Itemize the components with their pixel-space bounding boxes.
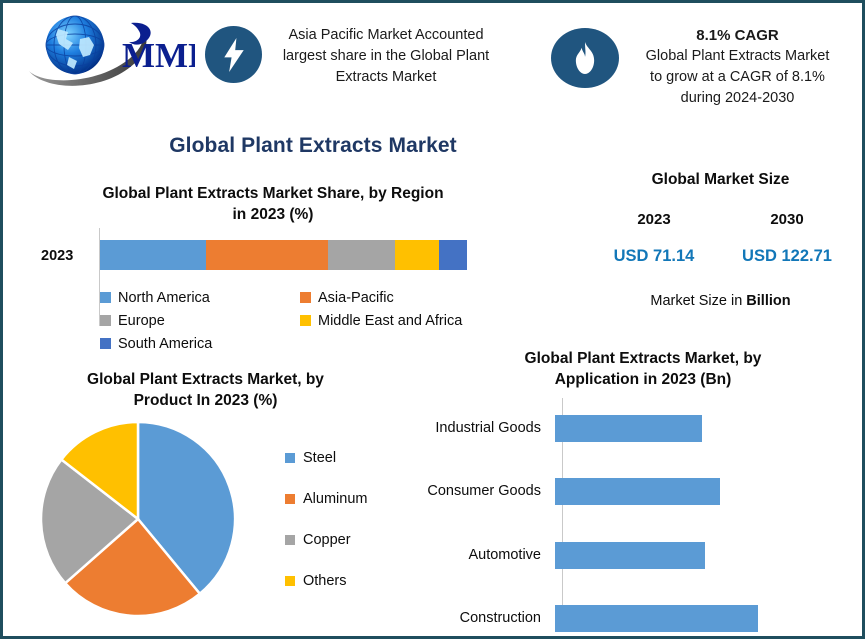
product-legend-label: Steel xyxy=(303,450,336,466)
application-bar xyxy=(555,478,720,505)
market-size-footer-unit: Billion xyxy=(746,293,790,309)
region-legend-label: Asia-Pacific xyxy=(318,290,394,306)
legend-swatch-icon xyxy=(285,535,295,545)
product-legend-item: Aluminum xyxy=(285,478,415,519)
highlight-1-line-1: Asia Pacific Market Accounted xyxy=(288,27,483,43)
logo-text: MMR xyxy=(122,36,195,75)
region-legend-item: South America xyxy=(100,332,300,355)
region-legend-label: South America xyxy=(118,336,212,352)
market-size-left-year: 2023 xyxy=(589,211,719,228)
legend-swatch-icon xyxy=(100,315,111,326)
market-size-left-value: USD 71.14 xyxy=(589,247,719,266)
product-pie xyxy=(38,419,238,619)
flame-icon xyxy=(551,28,619,88)
market-size-footer: Market Size in Billion xyxy=(583,293,858,309)
header-highlight-1-text: Asia Pacific Market Accounted largest sh… xyxy=(271,25,501,88)
product-legend-label: Others xyxy=(303,573,347,589)
application-chart-title: Global Plant Extracts Market, by Applica… xyxy=(433,348,853,390)
region-segment-3 xyxy=(395,240,439,270)
region-segment-0 xyxy=(100,240,206,270)
application-category-label: Automotive xyxy=(423,547,555,563)
region-segment-2 xyxy=(328,240,396,270)
application-bar xyxy=(555,605,758,632)
page-title: Global Plant Extracts Market xyxy=(3,134,623,158)
application-title-line-1: Global Plant Extracts Market, by xyxy=(525,350,762,367)
legend-swatch-icon xyxy=(300,315,311,326)
application-bar-row: Automotive xyxy=(423,540,705,570)
application-bar xyxy=(555,415,702,442)
market-size-title: Global Market Size xyxy=(583,171,858,189)
region-segment-4 xyxy=(439,240,467,270)
application-category-label: Construction xyxy=(423,610,555,626)
market-size-footer-prefix: Market Size in xyxy=(650,293,746,309)
market-size-right-value: USD 122.71 xyxy=(722,247,852,266)
application-bar-row: Construction xyxy=(423,603,758,633)
region-legend-label: Middle East and Africa xyxy=(318,313,462,329)
infographic-canvas: MMR Asia Pacific Market Accounted larges… xyxy=(0,0,865,639)
product-chart-legend: SteelAluminumCopperOthers xyxy=(285,437,415,601)
company-logo: MMR xyxy=(25,9,195,89)
region-share-chart-title: Global Plant Extracts Market Share, by R… xyxy=(3,183,543,225)
product-legend-label: Copper xyxy=(303,532,351,548)
product-legend-item: Copper xyxy=(285,519,415,560)
legend-swatch-icon xyxy=(285,494,295,504)
product-title-line-1: Global Plant Extracts Market, by xyxy=(87,371,324,388)
highlight-1-line-2: largest share in the Global Plant xyxy=(283,48,489,64)
application-bar-row: Consumer Goods xyxy=(423,476,720,506)
highlight-2-cagr: 8.1% CAGR xyxy=(615,25,860,46)
market-size-2023-column: 2023 USD 71.14 xyxy=(589,211,719,266)
region-legend-label: North America xyxy=(118,290,210,306)
highlight-2-line-1: Global Plant Extracts Market xyxy=(646,48,830,64)
application-chart: Global Plant Extracts Market, by Applica… xyxy=(423,343,863,633)
legend-swatch-icon xyxy=(285,576,295,586)
region-title-line-2: in 2023 (%) xyxy=(233,206,314,223)
product-title-line-2: Product In 2023 (%) xyxy=(134,392,278,409)
header: MMR Asia Pacific Market Accounted larges… xyxy=(3,3,862,115)
product-legend-item: Others xyxy=(285,560,415,601)
legend-swatch-icon xyxy=(100,338,111,349)
highlight-2-line-3: during 2024-2030 xyxy=(681,90,795,106)
globe-icon: MMR xyxy=(25,9,195,89)
application-bar xyxy=(555,542,705,569)
region-segment-1 xyxy=(206,240,327,270)
legend-swatch-icon xyxy=(300,292,311,303)
market-size-2030-column: 2030 USD 122.71 xyxy=(722,211,852,266)
lightning-bolt-icon xyxy=(205,26,262,83)
product-chart-title: Global Plant Extracts Market, by Product… xyxy=(13,369,398,411)
application-category-label: Industrial Goods xyxy=(423,420,555,436)
region-legend-item: Europe xyxy=(100,309,300,332)
region-legend-item: Middle East and Africa xyxy=(300,309,500,332)
region-legend-label: Europe xyxy=(118,313,165,329)
product-share-chart: Global Plant Extracts Market, by Product… xyxy=(13,369,413,634)
region-legend-item: Asia-Pacific xyxy=(300,286,500,309)
legend-swatch-icon xyxy=(285,453,295,463)
region-title-line-1: Global Plant Extracts Market Share, by R… xyxy=(102,185,443,202)
application-title-line-2: Application in 2023 (Bn) xyxy=(555,371,732,388)
highlight-1-line-3: Extracts Market xyxy=(336,69,437,85)
region-stacked-bar xyxy=(100,240,467,270)
application-category-label: Consumer Goods xyxy=(423,483,555,499)
product-legend-label: Aluminum xyxy=(303,491,367,507)
global-market-size-panel: Global Market Size 2023 USD 71.14 2030 U… xyxy=(583,171,858,331)
header-highlight-2-text: 8.1% CAGR Global Plant Extracts Market t… xyxy=(615,25,860,109)
region-legend-item: North America xyxy=(100,286,300,309)
region-category-label: 2023 xyxy=(41,248,73,264)
product-legend-item: Steel xyxy=(285,437,415,478)
market-size-right-year: 2030 xyxy=(722,211,852,228)
legend-swatch-icon xyxy=(100,292,111,303)
application-bar-row: Industrial Goods xyxy=(423,413,702,443)
highlight-2-line-2: to grow at a CAGR of 8.1% xyxy=(650,69,825,85)
